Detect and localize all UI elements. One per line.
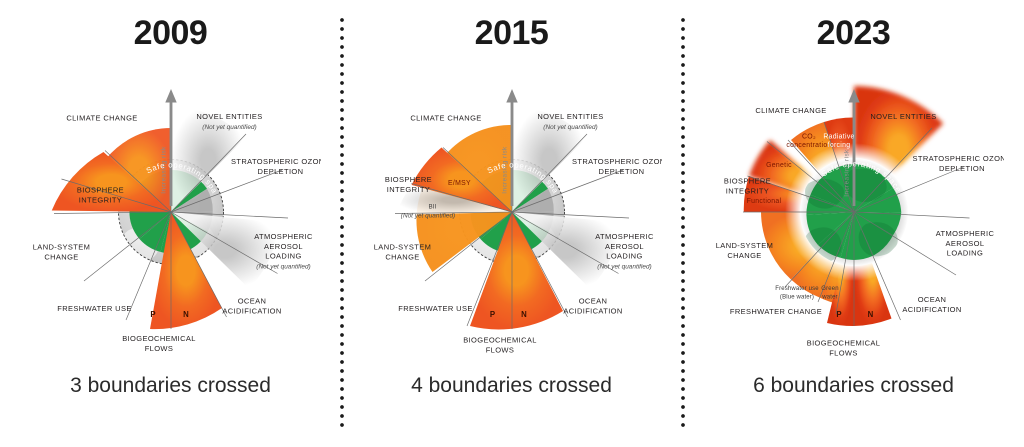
panel-title-2009: 2009 bbox=[0, 14, 341, 53]
label-ocean-line2: ACIDIFICATION bbox=[563, 306, 622, 315]
label-land-system-line2: CHANGE bbox=[727, 251, 761, 260]
label-land-system-line1: LAND-SYSTEM bbox=[373, 243, 430, 252]
panel-title-2015: 2015 bbox=[341, 14, 682, 53]
label-novel-entities-note: (Not yet quantified) bbox=[202, 124, 256, 131]
label-ozone-line1: STRATOSPHERIC OZONE bbox=[912, 154, 1003, 163]
label-ocean-line1: OCEAN bbox=[237, 297, 266, 306]
panel-2023: 2023 bbox=[683, 0, 1024, 447]
label-climate-change: CLIMATE CHANGE bbox=[66, 114, 137, 123]
label-p: P bbox=[150, 310, 155, 319]
label-ozone-line2: DEPLETION bbox=[598, 167, 644, 176]
label-biogeochemical-line1: BIOGEOCHEMICAL bbox=[122, 334, 196, 343]
label-aerosol-line1: ATMOSPHERIC bbox=[935, 229, 994, 238]
label-land-system-line1: LAND-SYSTEM bbox=[715, 241, 772, 250]
label-n: N bbox=[867, 310, 873, 319]
label-freshwater-use: FRESHWATER USE bbox=[57, 304, 131, 313]
label-bii-note: (Not yet quantified) bbox=[400, 212, 454, 219]
axis-label-increasing-risk: Increasing risk bbox=[843, 149, 850, 197]
label-aerosol-line3: LOADING bbox=[606, 252, 642, 261]
label-aerosol-note: (Not yet quantified) bbox=[597, 263, 651, 270]
label-p: P bbox=[836, 310, 841, 319]
label-bii: BII bbox=[428, 204, 436, 210]
label-land-system-line2: CHANGE bbox=[385, 252, 419, 261]
label-radiative-line2: forcing bbox=[827, 142, 850, 149]
panel-2015: 2015 bbox=[341, 0, 682, 447]
label-ozone-line1: STRATOSPHERIC OZONE bbox=[231, 157, 321, 166]
label-ozone-line2: DEPLETION bbox=[939, 164, 985, 173]
label-biosphere-line2: INTEGRITY bbox=[386, 185, 429, 194]
label-functional: Functional bbox=[746, 198, 781, 205]
wheel-2015: Increasing risk Safe operating space CLI… bbox=[362, 62, 662, 362]
label-biosphere-line1: BIOSPHERE bbox=[76, 186, 123, 195]
panel-caption-2023: 6 boundaries crossed bbox=[683, 374, 1024, 398]
label-climate-change: CLIMATE CHANGE bbox=[755, 106, 826, 115]
label-aerosol-line3: LOADING bbox=[946, 249, 982, 258]
label-land-system-line2: CHANGE bbox=[44, 252, 78, 261]
label-aerosol-line1: ATMOSPHERIC bbox=[254, 232, 313, 241]
label-emsy: E/MSY bbox=[448, 180, 471, 187]
label-novel-entities-note: (Not yet quantified) bbox=[543, 124, 597, 131]
label-co2-line2: concentration bbox=[786, 142, 831, 149]
label-ozone-line2: DEPLETION bbox=[257, 167, 303, 176]
label-green-water-line1: Green bbox=[821, 286, 838, 292]
label-n: N bbox=[183, 310, 189, 319]
label-aerosol-note: (Not yet quantified) bbox=[256, 263, 310, 270]
planetary-boundaries-figure: 2009 bbox=[0, 0, 1024, 447]
panel-title-2023: 2023 bbox=[683, 14, 1024, 53]
label-land-system-line1: LAND-SYSTEM bbox=[32, 243, 89, 252]
label-blue-water-line2: (Blue water) bbox=[779, 294, 813, 300]
label-aerosol-line2: AEROSOL bbox=[945, 239, 984, 248]
label-biogeochemical-line2: FLOWS bbox=[144, 344, 173, 353]
label-co2-line1: CO₂ bbox=[802, 134, 816, 141]
panel-caption-2009: 3 boundaries crossed bbox=[0, 374, 341, 398]
label-biogeochemical-line1: BIOGEOCHEMICAL bbox=[463, 336, 537, 345]
panel-divider-1 bbox=[340, 18, 344, 430]
label-aerosol-line2: AEROSOL bbox=[605, 242, 644, 251]
label-radiative-line1: Radiative bbox=[823, 134, 854, 141]
radar-svg-2015: Increasing risk Safe operating space CLI… bbox=[362, 62, 662, 362]
wheel-2023: Increasing risk Safe operating space CLI… bbox=[704, 62, 1004, 362]
radar-svg-2023: Increasing risk Safe operating space CLI… bbox=[704, 62, 1004, 362]
label-aerosol-line3: LOADING bbox=[265, 252, 301, 261]
panel-caption-2015: 4 boundaries crossed bbox=[341, 374, 682, 398]
label-biogeochemical-line1: BIOGEOCHEMICAL bbox=[806, 339, 880, 348]
label-p: P bbox=[489, 310, 494, 319]
label-aerosol-line2: AEROSOL bbox=[264, 242, 303, 251]
label-ocean-line1: OCEAN bbox=[578, 297, 607, 306]
label-n: N bbox=[521, 310, 527, 319]
label-ocean-line2: ACIDIFICATION bbox=[902, 305, 961, 314]
label-blue-water-line1: Freshwater use bbox=[775, 286, 819, 292]
label-novel-entities: NOVEL ENTITIES bbox=[196, 112, 262, 121]
label-ozone-line1: STRATOSPHERIC OZONE bbox=[572, 157, 662, 166]
label-novel-entities: NOVEL ENTITIES bbox=[537, 112, 603, 121]
label-ocean-line2: ACIDIFICATION bbox=[222, 306, 281, 315]
label-genetic: Genetic bbox=[766, 162, 792, 169]
label-novel-entities: NOVEL ENTITIES bbox=[870, 112, 936, 121]
label-freshwater-use: FRESHWATER USE bbox=[398, 304, 472, 313]
radar-svg-2009: Increasing risk Safe operating space CLI… bbox=[21, 62, 321, 362]
label-green-water-line2: water bbox=[821, 294, 837, 300]
panel-divider-2 bbox=[681, 18, 685, 430]
label-biogeochemical-line2: FLOWS bbox=[829, 348, 858, 357]
label-freshwater-change: FRESHWATER CHANGE bbox=[729, 307, 821, 316]
label-climate-change: CLIMATE CHANGE bbox=[410, 114, 481, 123]
label-biosphere-line1: BIOSPHERE bbox=[723, 177, 770, 186]
label-biosphere-line2: INTEGRITY bbox=[78, 195, 121, 204]
label-ocean-line1: OCEAN bbox=[917, 295, 946, 304]
label-biogeochemical-line2: FLOWS bbox=[485, 345, 514, 354]
panel-2009: 2009 bbox=[0, 0, 341, 447]
wheel-2009: Increasing risk Safe operating space CLI… bbox=[21, 62, 321, 362]
label-biosphere-line2: INTEGRITY bbox=[725, 186, 768, 195]
label-biosphere-line1: BIOSPHERE bbox=[384, 175, 431, 184]
label-aerosol-line1: ATMOSPHERIC bbox=[595, 232, 654, 241]
